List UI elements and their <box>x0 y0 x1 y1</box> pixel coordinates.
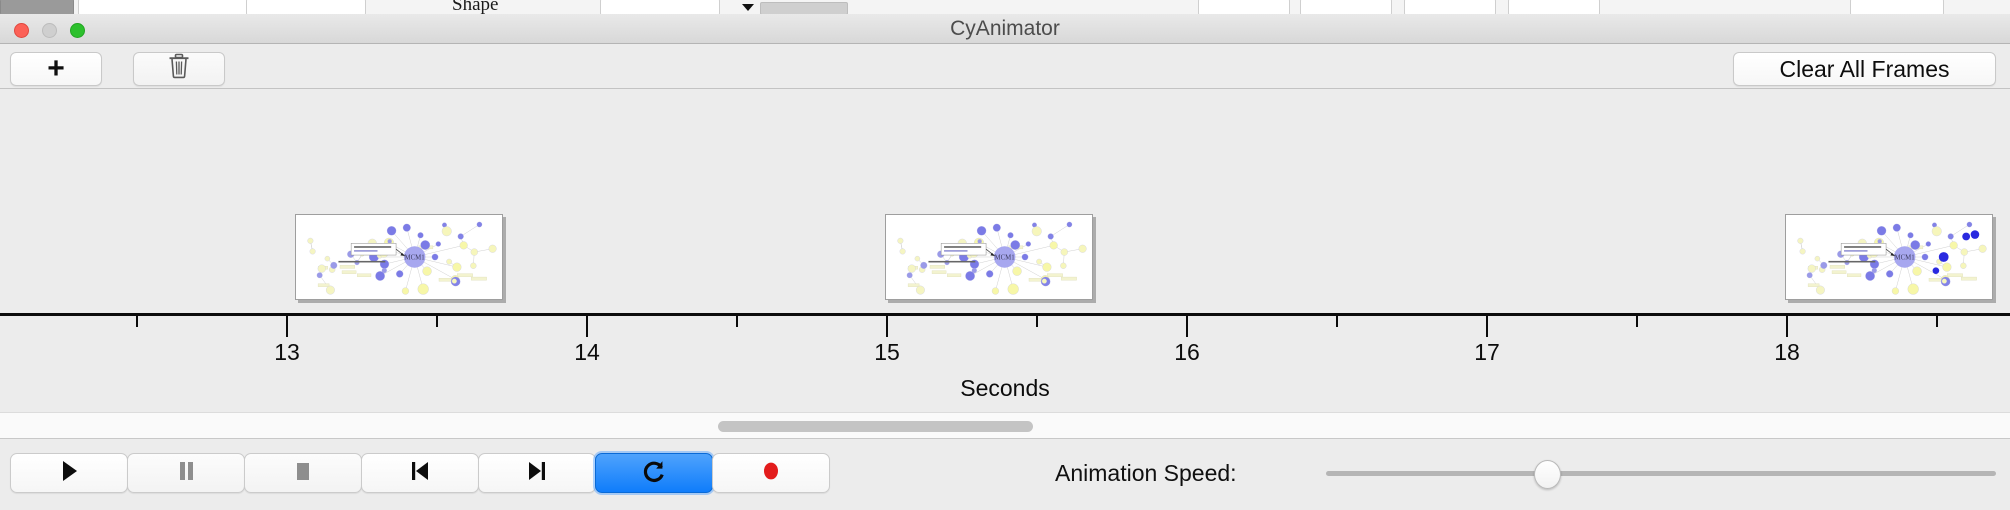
cyanimator-window: Shape CyAnimator + <box>0 0 2010 510</box>
animation-speed-slider-thumb[interactable] <box>1534 460 1561 489</box>
record-button[interactable] <box>712 453 830 493</box>
ruler-tick-label: 13 <box>274 339 300 366</box>
hub-node-label: MCM1 <box>1895 255 1915 262</box>
timeline-frame[interactable]: MCM1 <box>885 214 1093 300</box>
axis-title-seconds: Seconds <box>0 375 2010 402</box>
animation-speed-label: Animation Speed: <box>1055 453 1237 493</box>
hub-node-label: MCM1 <box>405 255 425 262</box>
ruler-tick-label: 16 <box>1174 339 1200 366</box>
window-title: CyAnimator <box>0 14 2010 44</box>
scrollbar-thumb[interactable] <box>718 421 1033 432</box>
ruler-tick-label: 14 <box>574 339 600 366</box>
ruler-baseline <box>0 313 2010 316</box>
skip-to-end-button[interactable] <box>478 453 596 493</box>
ruler-tick <box>1786 316 1788 337</box>
ruler-tick <box>586 316 588 337</box>
title-bar: CyAnimator <box>0 14 2010 44</box>
network-thumbnail: MCM1 <box>296 215 502 299</box>
loop-button[interactable] <box>595 453 713 493</box>
play-button[interactable] <box>10 453 128 493</box>
bg-chip <box>0 0 74 15</box>
loop-icon <box>641 458 667 489</box>
ruler-tick-label: 15 <box>874 339 900 366</box>
ruler-tick <box>1336 316 1338 327</box>
bg-chip <box>1404 0 1496 15</box>
bg-chip <box>1300 0 1392 15</box>
ruler-tick <box>1936 316 1938 327</box>
stop-icon <box>290 458 316 489</box>
background-app-strip: Shape <box>0 0 2010 15</box>
ruler-tick <box>1036 316 1038 327</box>
skip-to-start-button[interactable] <box>361 453 479 493</box>
bg-chip <box>246 0 366 15</box>
ruler-tick-label: 18 <box>1774 339 1800 366</box>
play-icon <box>56 458 82 489</box>
trash-icon <box>167 53 191 85</box>
add-frame-button[interactable]: + <box>10 52 102 86</box>
bg-chip <box>1850 0 1944 15</box>
ruler-tick <box>886 316 888 337</box>
hub-node-label: MCM1 <box>995 255 1015 262</box>
delete-frame-button[interactable] <box>133 52 225 86</box>
ruler-tick-label: 17 <box>1474 339 1500 366</box>
animation-speed-slider-track[interactable] <box>1326 471 1996 476</box>
ruler-tick <box>1636 316 1638 327</box>
ruler-tick <box>1486 316 1488 337</box>
ruler-tick <box>286 316 288 337</box>
ruler-tick <box>1186 316 1188 337</box>
skip-back-icon <box>407 458 433 489</box>
pause-icon <box>173 458 199 489</box>
ruler-tick <box>736 316 738 327</box>
bg-shape-label: Shape <box>452 0 498 15</box>
bg-chip <box>1198 0 1290 15</box>
bg-caret-icon <box>742 4 754 11</box>
skip-forward-icon <box>524 458 550 489</box>
timeline-frame[interactable]: MCM1 <box>295 214 503 300</box>
plus-icon: + <box>47 54 65 84</box>
record-icon <box>758 458 784 489</box>
network-thumbnail: MCM1 <box>1786 215 1992 299</box>
timeline-panel[interactable]: MCM1MCM1MCM1 2131415161718 Seconds <box>0 89 2010 412</box>
ruler-tick <box>436 316 438 327</box>
timeline-frame[interactable]: MCM1 <box>1785 214 1993 300</box>
clear-all-frames-button[interactable]: Clear All Frames <box>1733 52 1996 86</box>
playback-control-bar: Animation Speed: <box>0 439 2010 510</box>
stop-button <box>244 453 362 493</box>
timeline-scrollbar[interactable] <box>0 412 2010 439</box>
pause-button <box>127 453 245 493</box>
bg-chip <box>1508 0 1600 15</box>
network-thumbnail: MCM1 <box>886 215 1092 299</box>
toolbar: + Clear All Frames <box>0 45 2010 89</box>
ruler-tick <box>136 316 138 327</box>
bg-chip <box>600 0 720 15</box>
